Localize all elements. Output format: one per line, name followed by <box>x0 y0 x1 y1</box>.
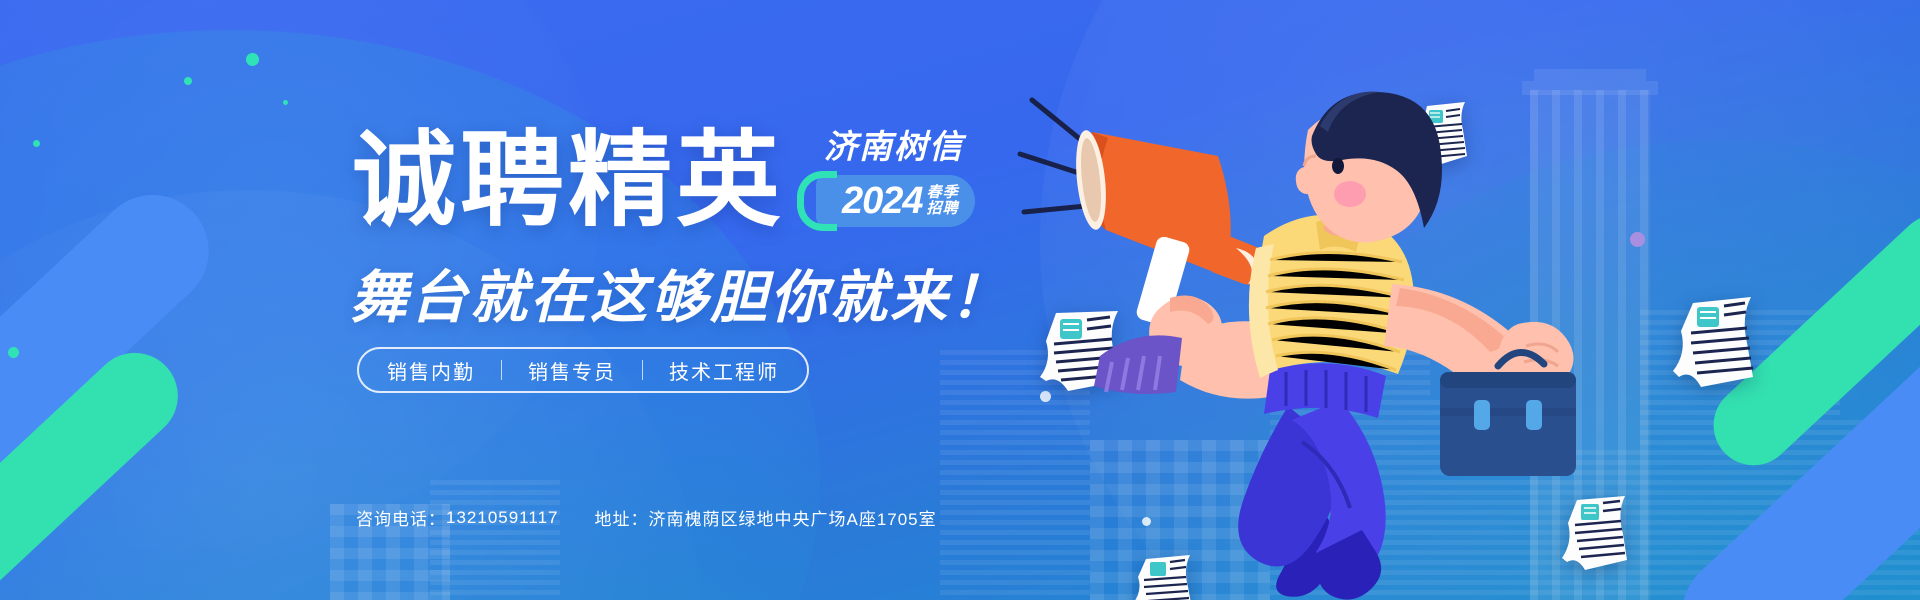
badge-body: 2024 春季 招聘 <box>816 175 975 227</box>
banner-content: 诚聘精英 济南树信 2024 春季 招聘 舞台就在这够胆你就来！ 销售内勤 <box>0 0 1920 600</box>
phone-label: 咨询电话： <box>356 505 446 530</box>
position-separator <box>642 360 643 380</box>
phone-number: 13210591117 <box>446 508 558 528</box>
badge-swoosh-accent <box>797 171 837 231</box>
address-value: 济南槐荫区绿地中央广场A座1705室 <box>648 505 936 530</box>
job-position-3: 技术工程师 <box>669 356 779 385</box>
page-title: 诚聘精英 <box>352 129 784 233</box>
page-subtitle: 舞台就在这够胆你就来！ <box>350 252 1010 334</box>
badge-season: 春季 招聘 <box>927 185 959 217</box>
address-label: 地址： <box>594 505 648 530</box>
badge-season-line1: 春季 <box>927 185 959 201</box>
badge-season-line2: 招聘 <box>927 201 959 217</box>
recruitment-badge: 2024 春季 招聘 <box>802 175 975 227</box>
badge-block: 济南树信 2024 春季 招聘 <box>802 120 975 227</box>
job-position-2: 销售专员 <box>528 356 616 385</box>
headline-row: 诚聘精英 济南树信 2024 春季 招聘 <box>352 120 975 233</box>
job-positions-pill: 销售内勤 销售专员 技术工程师 <box>357 347 809 393</box>
position-separator <box>501 360 502 380</box>
contact-info: 咨询电话： 13210591117 地址： 济南槐荫区绿地中央广场A座1705室 <box>356 505 937 530</box>
job-position-1: 销售内勤 <box>387 356 475 385</box>
company-name: 济南树信 <box>802 120 964 168</box>
recruitment-banner: 诚聘精英 济南树信 2024 春季 招聘 舞台就在这够胆你就来！ 销售内勤 <box>0 0 1920 600</box>
badge-year: 2024 <box>842 182 923 220</box>
